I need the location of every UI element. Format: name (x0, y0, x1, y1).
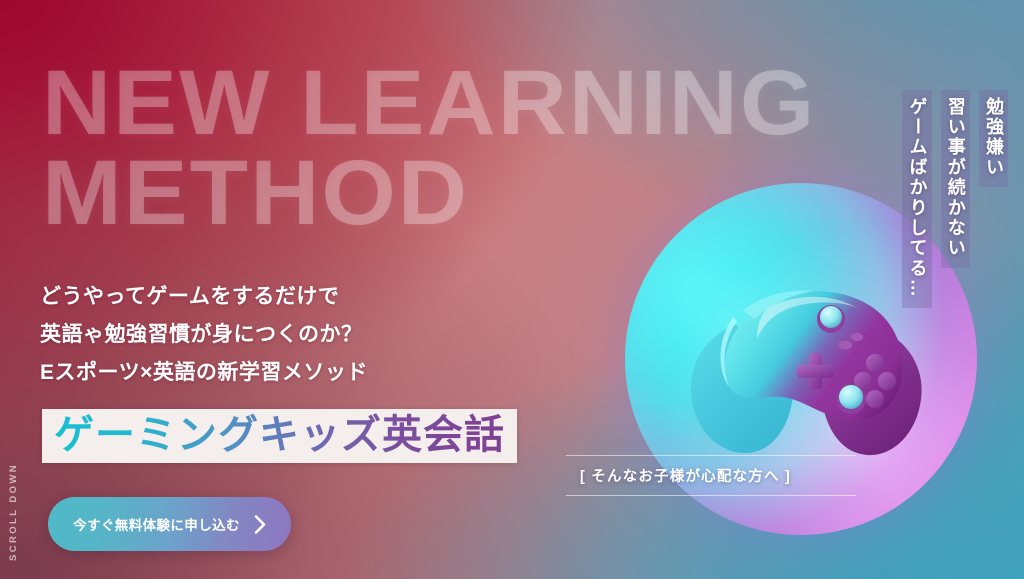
pain-point-tag-1: 勉強嫌い (979, 90, 1008, 187)
caption-text: [ そんなお子様が心配な方へ ] (566, 456, 856, 495)
copy-line-2: 英語ゃ勉強習慣が身につくのか？ (40, 324, 600, 345)
subheading-copy: どうやってゲームをするだけで 英語ゃ勉強習慣が身につくのか？ Eスポーツ×英語の… (40, 286, 600, 400)
caption-block: [ そんなお子様が心配な方へ ] (566, 455, 856, 496)
pain-point-tag-3: ゲームばかりしてる… (902, 90, 931, 308)
free-trial-cta-button[interactable]: 今すぐ無料体験に申し込む (48, 497, 291, 551)
copy-line-1: どうやってゲームをするだけで (40, 286, 600, 307)
chevron-right-icon (254, 515, 266, 534)
caption-rule-bottom (566, 495, 856, 496)
highlight-title: ゲーミングキッズ英会話 (54, 413, 505, 457)
cta-label: 今すぐ無料体験に申し込む (73, 514, 240, 534)
copy-line-3: Eスポーツ×英語の新学習メソッド (40, 362, 600, 383)
pain-point-tag-2: 習い事が続かない (941, 90, 970, 268)
hero-banner: NEW LEARNING METHOD (0, 0, 1024, 579)
highlight-title-box: ゲーミングキッズ英会話 (42, 409, 517, 463)
scroll-down-label: SCROLL DOWN (8, 463, 19, 561)
pain-point-tags: ゲームばかりしてる… 習い事が続かない 勉強嫌い (902, 90, 1008, 308)
